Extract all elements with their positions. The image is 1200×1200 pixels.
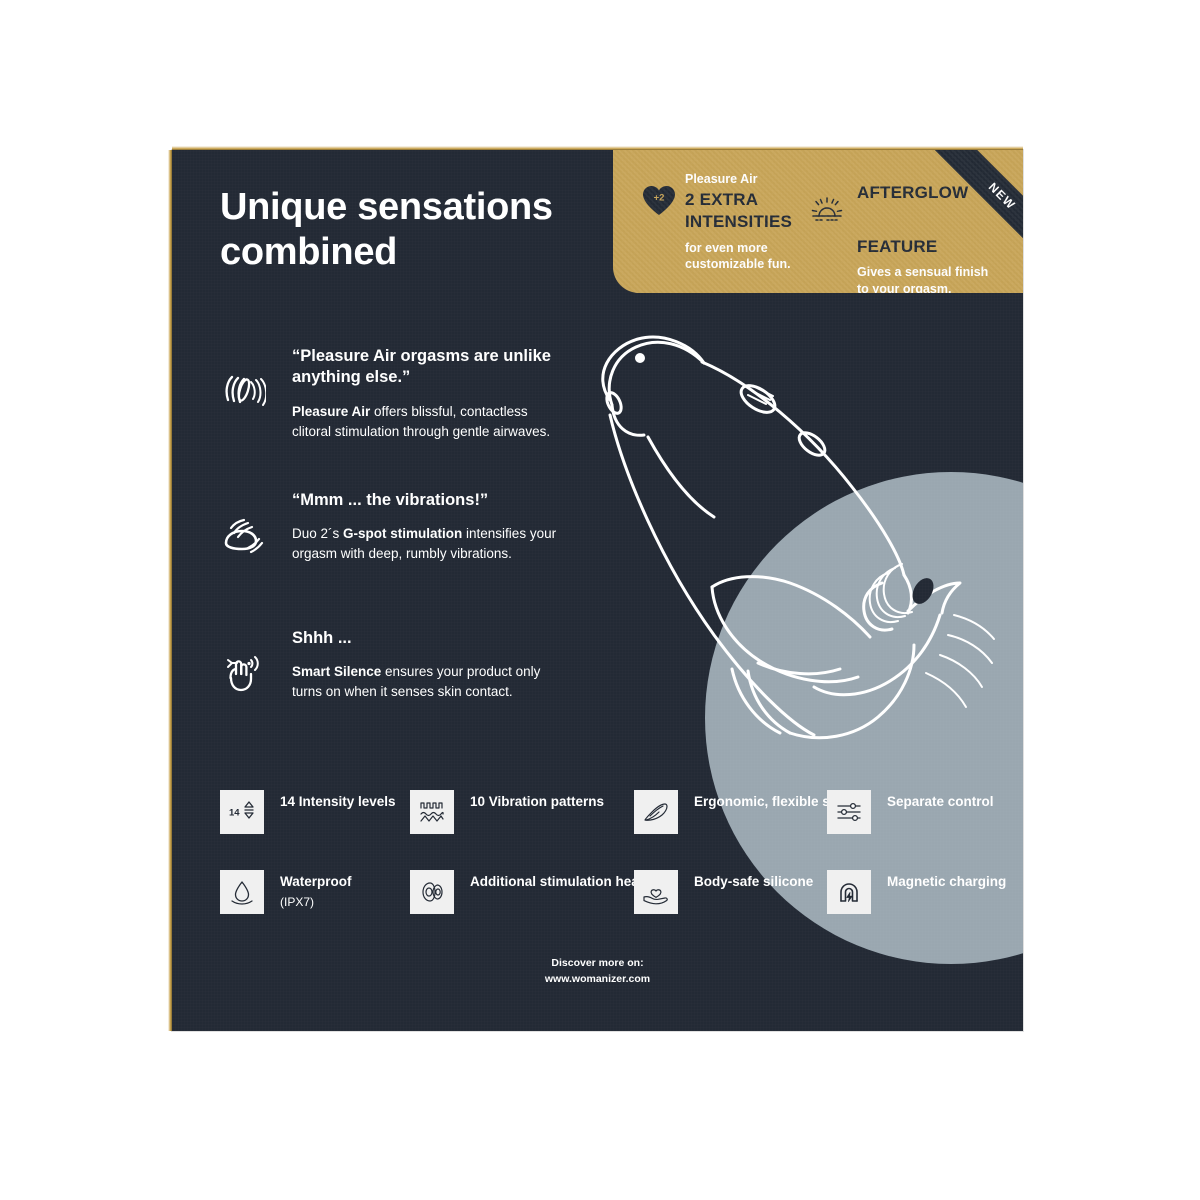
spec-sublabel: (IPX7) [280, 891, 352, 910]
separate-control-icon [827, 790, 871, 834]
gold-head-2-line1: AFTERGLOW [857, 150, 1009, 204]
feature-1-body: Pleasure Air offers blissful, contactles… [292, 389, 570, 442]
spec-vibration-patterns: 10 Vibration patterns [410, 790, 604, 834]
spec-waterproof: Waterproof (IPX7) [220, 870, 352, 914]
ergonomic-shape-icon [634, 790, 678, 834]
body-safe-silicone-icon [634, 870, 678, 914]
dark-panel: NEW +2 Pleasure Air 2 EXTRA INTENSITIES … [172, 150, 1023, 1031]
spec-separate-control: Separate control [827, 790, 994, 834]
intensity-levels-icon: 14 [220, 790, 264, 834]
spec-magnetic-charging: Magnetic charging [827, 870, 1006, 914]
footer: Discover more on: www.womanizer.com [172, 956, 1023, 988]
spec-label: Additional stimulation head [470, 870, 647, 891]
page-title: Unique sensations combined [220, 185, 610, 275]
footer-url[interactable]: www.womanizer.com [172, 972, 1023, 988]
gold-item-afterglow: AFTERGLOW FEATURE Gives a sensual finish… [809, 150, 1009, 293]
vibration-patterns-icon [410, 790, 454, 834]
feature-vibration: “Mmm ... the vibrations!” Duo 2´s G-spot… [220, 490, 570, 564]
feature-2-headline: “Mmm ... the vibrations!” [292, 490, 570, 511]
spec-label: Separate control [887, 790, 994, 811]
footer-line-1: Discover more on: [172, 956, 1023, 972]
magnetic-charging-icon [827, 870, 871, 914]
airwave-hand-icon [220, 368, 266, 414]
gold-sub-2-line2: to your orgasm. [857, 281, 1009, 293]
waterproof-icon [220, 870, 264, 914]
feature-2-body-bold: G-spot stimulation [343, 526, 462, 541]
spec-stimulation-head: Additional stimulation head [410, 870, 647, 914]
spec-label: Waterproof (IPX7) [280, 870, 352, 910]
feature-2-body-pre: Duo 2´s [292, 526, 343, 541]
spec-label: 10 Vibration patterns [470, 790, 604, 811]
feature-pleasure-air: “Pleasure Air orgasms are unlike anythin… [220, 346, 570, 442]
feature-1-body-bold: Pleasure Air [292, 404, 370, 419]
product-illustration [552, 325, 1022, 745]
gold-feature-banner: NEW +2 Pleasure Air 2 EXTRA INTENSITIES … [613, 150, 1023, 293]
feature-1-headline: “Pleasure Air orgasms are unlike anythin… [292, 346, 570, 389]
feature-smart-silence: Shhh ... Smart Silence ensures your prod… [220, 628, 570, 702]
heart-plus-two-icon: +2 [641, 183, 677, 219]
stimulation-head-icon [410, 870, 454, 914]
spec-body-safe-silicone: Body-safe silicone [634, 870, 813, 914]
spec-label: Body-safe silicone [694, 870, 813, 891]
vibration-icon [220, 512, 266, 558]
package-back-panel: NEW +2 Pleasure Air 2 EXTRA INTENSITIES … [0, 0, 1200, 1200]
gold-sub-2-line1: Gives a sensual finish [857, 257, 1009, 280]
spec-label: Magnetic charging [887, 870, 1006, 891]
gold-head-2-line2: FEATURE [857, 204, 1009, 258]
svg-text:+2: +2 [654, 193, 665, 204]
feature-3-body-bold: Smart Silence [292, 664, 381, 679]
feature-2-body: Duo 2´s G-spot stimulation intensifies y… [292, 511, 570, 564]
smart-silence-icon [220, 650, 266, 696]
gold-item-extra-intensities: +2 Pleasure Air 2 EXTRA INTENSITIES for … [641, 150, 831, 273]
sunrise-icon [809, 192, 845, 228]
spec-label: 14 Intensity levels [280, 790, 396, 811]
spec-label-text: Waterproof [280, 874, 352, 889]
spec-intensity-levels: 14 14 Intensity levels [220, 790, 396, 834]
feature-3-body: Smart Silence ensures your product only … [292, 649, 570, 702]
svg-text:14: 14 [229, 808, 240, 819]
feature-3-headline: Shhh ... [292, 628, 570, 649]
